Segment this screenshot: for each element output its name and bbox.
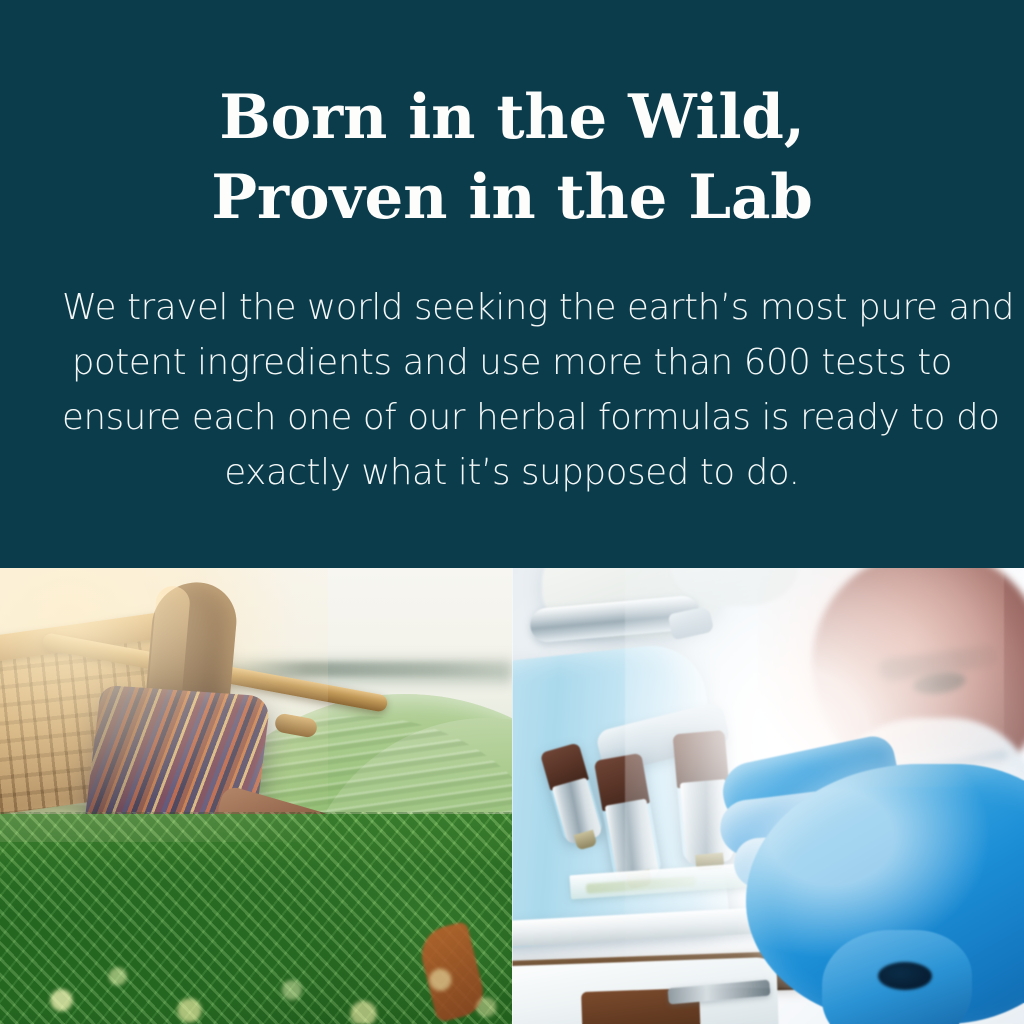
text-panel: Born in the Wild, Proven in the Lab We t…: [0, 0, 1024, 568]
page-title: Born in the Wild, Proven in the Lab: [82, 78, 942, 238]
tea-harvest-photo: [0, 568, 512, 1024]
subcopy-line-1: We travel the world seeking the earth’s …: [62, 280, 962, 335]
distant-ridge: [236, 662, 512, 676]
subcopy-line-3: ensure each one of our herbal formulas i…: [62, 390, 962, 445]
subcopy-paragraph: We travel the world seeking the earth’s …: [62, 280, 962, 500]
headline-line-2: Proven in the Lab: [82, 158, 942, 238]
subcopy-line-2: potent ingredients and use more than 600…: [62, 335, 962, 390]
photo-divider: [512, 568, 513, 1024]
glove-shadow-detail: [878, 962, 932, 990]
subcopy-line-4: exactly what it’s supposed to do.: [62, 445, 962, 500]
sun-bokeh: [0, 854, 512, 1024]
laboratory-microscope-photo: [512, 568, 1024, 1024]
poster-canvas: Born in the Wild, Proven in the Lab We t…: [0, 0, 1024, 1024]
headline-line-1: Born in the Wild,: [82, 78, 942, 158]
